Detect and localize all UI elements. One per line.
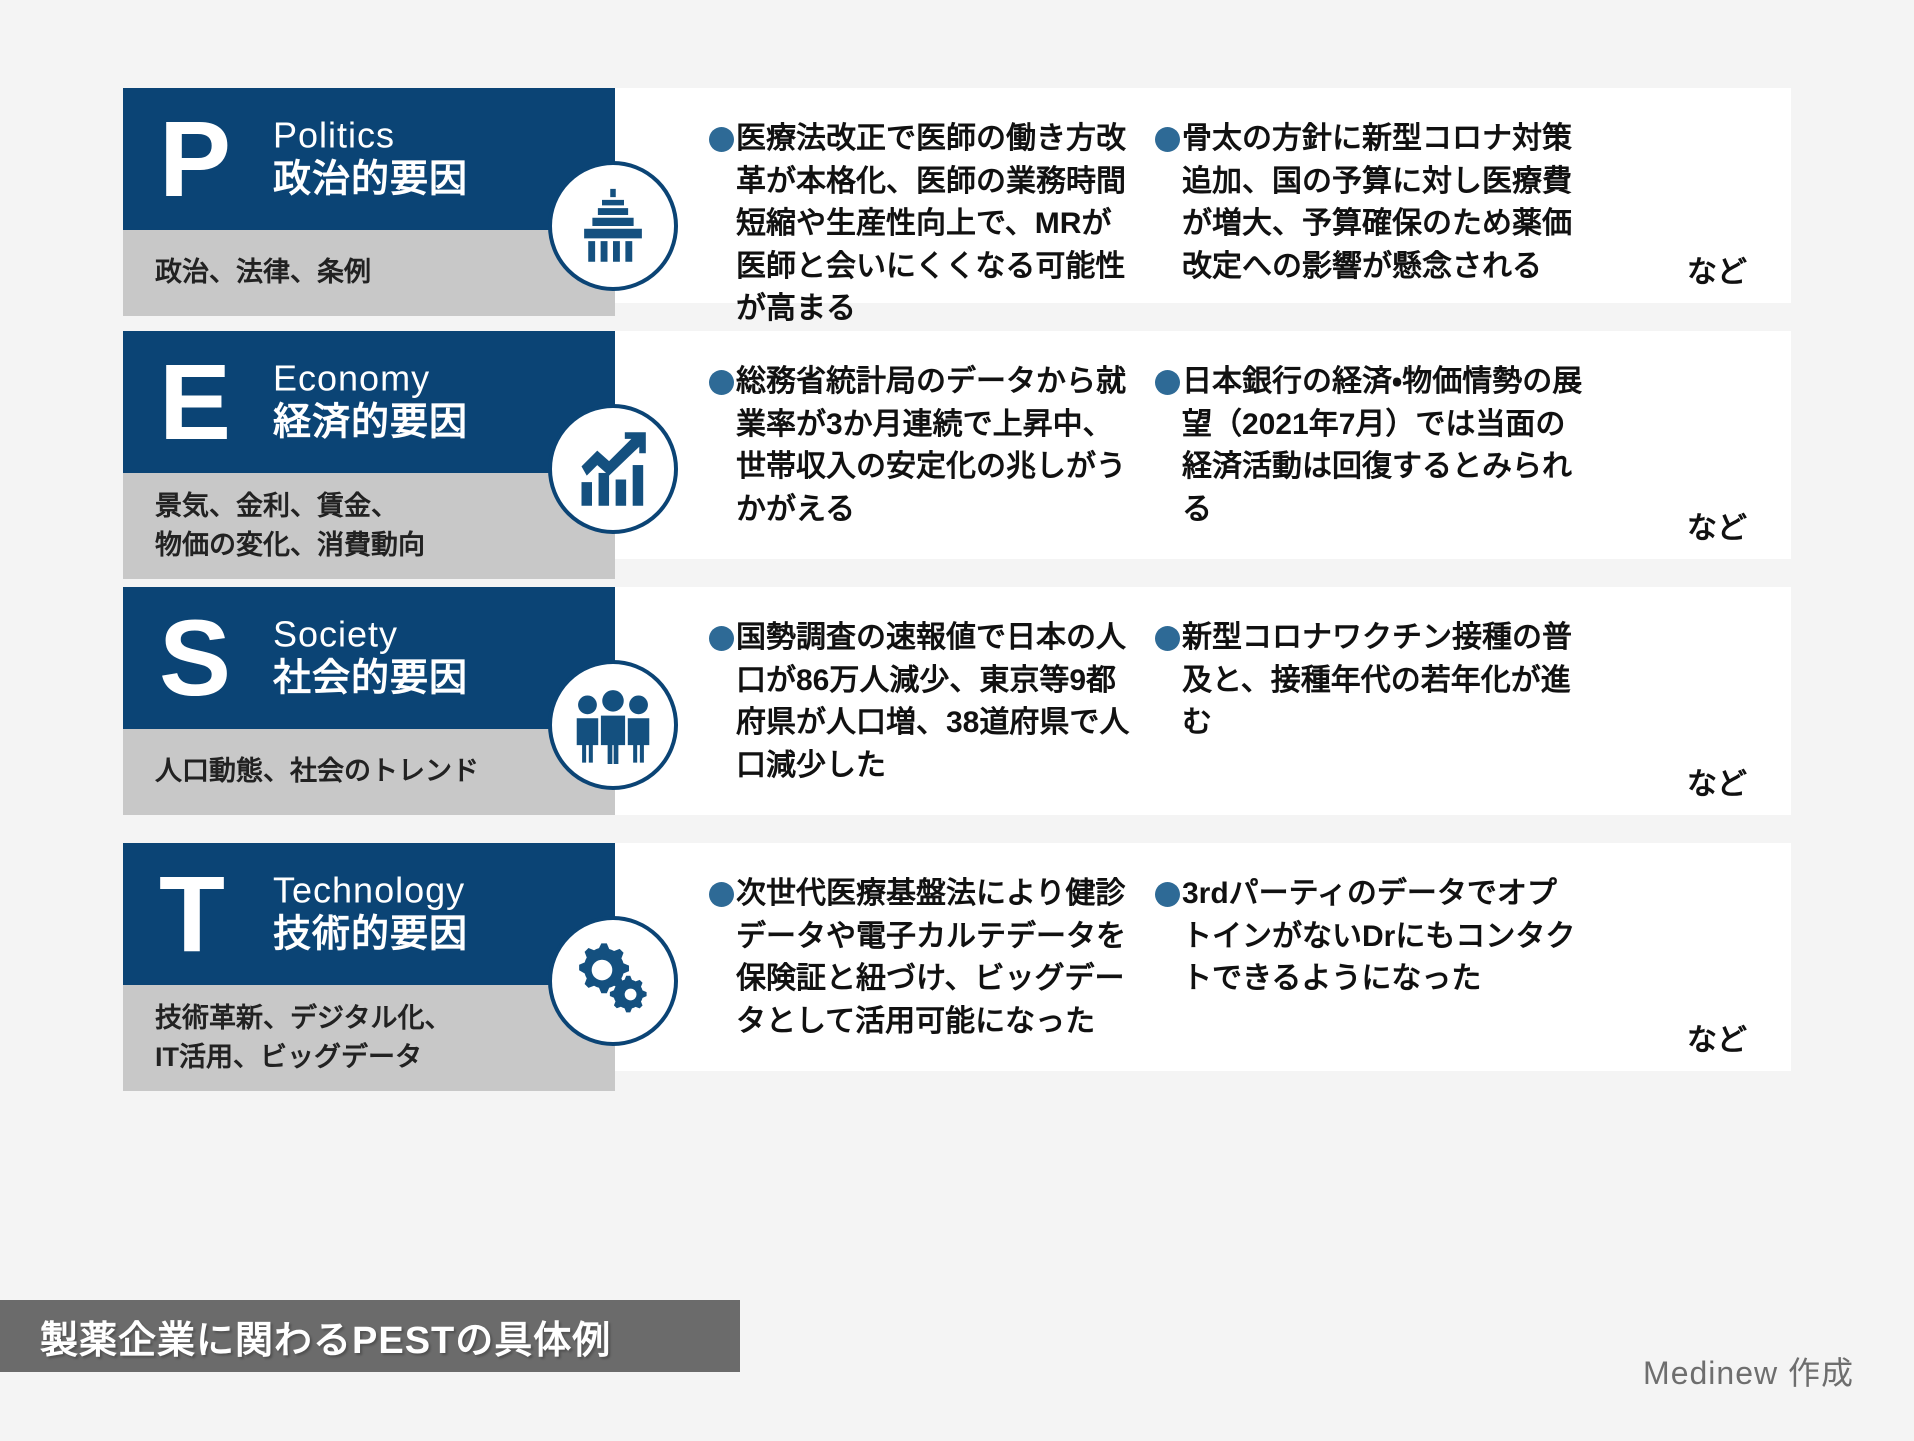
bullet-dot-icon [1155, 626, 1180, 651]
bullet-text: 新型コロナワクチン接種の普及と、接種年代の若年化が進む [1182, 617, 1585, 745]
row-header-texts-society: Society 社会的要因 [273, 614, 468, 703]
row-left-panel-economy: E Economy 経済的要因 景気、金利、賃金、 物価の変化、消費動向 [123, 331, 615, 559]
row-content-technology: 次世代医療基盤法により健診データや電子カルテデータを保険証と紐づけ、ビッグデータ… [615, 843, 1791, 1071]
row-left-panel-society: S Society 社会的要因 人口動態、社会のトレンド [123, 587, 615, 815]
gears-icon [548, 916, 678, 1046]
bullet-dot-icon [709, 626, 734, 651]
footer-title-bar: 製薬企業に関わるPESTの具体例 [0, 1300, 740, 1372]
etc-label-society: など [1687, 759, 1747, 803]
bullet-group-society-2: 新型コロナワクチン接種の普及と、接種年代の若年化が進む [1155, 617, 1585, 745]
pest-diagram: P Politics 政治的要因 政治、法律、条例 [0, 0, 1914, 1441]
bullet-text: 次世代医療基盤法により健診データや電子カルテデータを保険証と紐づけ、ビッグデータ… [736, 873, 1139, 1043]
bullet-group-economy-2: 日本銀行の経済・物価情勢の展望（2021年7月）では当面の経済活動は回復するとみ… [1155, 361, 1585, 531]
bullet-text: 国勢調査の速報値で日本の人口が86万人減少、東京等9都府県が人口増、38道府県で… [736, 617, 1139, 787]
bullet-item: 骨太の方針に新型コロナ対策追加、国の予算に対し医療費が増大、予算確保のため薬価改… [1155, 118, 1585, 288]
row-japanese-politics: 政治的要因 [273, 158, 468, 204]
pest-row-economy: E Economy 経済的要因 景気、金利、賃金、 物価の変化、消費動向 [123, 331, 1791, 559]
bullet-dot-icon [709, 370, 734, 395]
row-letter-technology: T [159, 860, 223, 968]
row-japanese-economy: 経済的要因 [273, 401, 468, 447]
row-subtitle-society: 人口動態、社会のトレンド [155, 752, 479, 791]
bar-chart-growth-icon [548, 404, 678, 534]
row-japanese-society: 社会的要因 [273, 657, 468, 703]
bullet-group-technology-2: 3rdパーティのデータでオプトインがないDrにもコンタクトできるようになった [1155, 873, 1585, 1001]
bullet-item: 次世代医療基盤法により健診データや電子カルテデータを保険証と紐づけ、ビッグデータ… [709, 873, 1139, 1043]
row-subtitle-box-economy: 景気、金利、賃金、 物価の変化、消費動向 [123, 473, 615, 579]
row-header-texts-politics: Politics 政治的要因 [273, 115, 468, 204]
bullet-item: 新型コロナワクチン接種の普及と、接種年代の若年化が進む [1155, 617, 1585, 745]
row-header-technology: T Technology 技術的要因 [123, 843, 615, 985]
bullet-dot-icon [709, 882, 734, 907]
bullet-dot-icon [1155, 370, 1180, 395]
footer-credit: Medinew 作成 [1643, 1348, 1854, 1394]
bullet-dot-icon [1155, 882, 1180, 907]
pest-row-society: S Society 社会的要因 人口動態、社会のトレンド [123, 587, 1791, 815]
bullet-group-economy-1: 総務省統計局のデータから就業率が3か月連続で上昇中、世帯収入の安定化の兆しがうか… [709, 361, 1139, 531]
bullet-text: 総務省統計局のデータから就業率が3か月連続で上昇中、世帯収入の安定化の兆しがうか… [736, 361, 1139, 531]
bullet-text: 医療法改正で医師の働き方改革が本格化、医師の業務時間短縮や生産性向上で、MRが医… [736, 118, 1139, 331]
bullet-text: 3rdパーティのデータでオプトインがないDrにもコンタクトできるようになった [1182, 873, 1585, 1001]
bullet-text: 日本銀行の経済・物価情勢の展望（2021年7月）では当面の経済活動は回復するとみ… [1182, 361, 1585, 531]
row-header-politics: P Politics 政治的要因 [123, 88, 615, 230]
bullet-item: 日本銀行の経済・物価情勢の展望（2021年7月）では当面の経済活動は回復するとみ… [1155, 361, 1585, 531]
bullet-group-politics-2: 骨太の方針に新型コロナ対策追加、国の予算に対し医療費が増大、予算確保のため薬価改… [1155, 118, 1585, 288]
row-letter-society: S [159, 604, 229, 712]
row-content-politics: 医療法改正で医師の働き方改革が本格化、医師の業務時間短縮や生産性向上で、MRが医… [615, 88, 1791, 303]
row-subtitle-box-politics: 政治、法律、条例 [123, 230, 615, 316]
pest-row-politics: P Politics 政治的要因 政治、法律、条例 [123, 88, 1791, 303]
row-subtitle-technology: 技術革新、デジタル化、 IT活用、ビッグデータ [155, 999, 451, 1077]
etc-label-technology: など [1687, 1015, 1747, 1059]
bullet-item: 3rdパーティのデータでオプトインがないDrにもコンタクトできるようになった [1155, 873, 1585, 1001]
bullet-dot-icon [1155, 127, 1180, 152]
etc-label-politics: など [1687, 247, 1747, 291]
row-letter-economy: E [159, 348, 229, 456]
row-subtitle-economy: 景気、金利、賃金、 物価の変化、消費動向 [155, 487, 425, 565]
bullet-text: 骨太の方針に新型コロナ対策追加、国の予算に対し医療費が増大、予算確保のため薬価改… [1182, 118, 1585, 288]
row-english-politics: Politics [273, 115, 468, 156]
bullet-group-politics-1: 医療法改正で医師の働き方改革が本格化、医師の業務時間短縮や生産性向上で、MRが医… [709, 118, 1139, 331]
row-letter-politics: P [159, 105, 229, 213]
bullet-item: 国勢調査の速報値で日本の人口が86万人減少、東京等9都府県が人口増、38道府県で… [709, 617, 1139, 787]
row-english-economy: Economy [273, 358, 468, 399]
pest-row-technology: T Technology 技術的要因 技術革新、デジタル化、 IT活用、ビッグデ… [123, 843, 1791, 1071]
row-subtitle-politics: 政治、法律、条例 [155, 253, 371, 292]
row-content-society: 国勢調査の速報値で日本の人口が86万人減少、東京等9都府県が人口増、38道府県で… [615, 587, 1791, 815]
row-header-texts-technology: Technology 技術的要因 [273, 870, 468, 959]
row-left-panel-politics: P Politics 政治的要因 政治、法律、条例 [123, 88, 615, 303]
parliament-building-icon [548, 161, 678, 291]
row-english-technology: Technology [273, 870, 468, 911]
row-left-panel-technology: T Technology 技術的要因 技術革新、デジタル化、 IT活用、ビッグデ… [123, 843, 615, 1071]
bullet-item: 医療法改正で医師の働き方改革が本格化、医師の業務時間短縮や生産性向上で、MRが医… [709, 118, 1139, 331]
row-content-economy: 総務省統計局のデータから就業率が3か月連続で上昇中、世帯収入の安定化の兆しがうか… [615, 331, 1791, 559]
row-header-society: S Society 社会的要因 [123, 587, 615, 729]
row-subtitle-box-technology: 技術革新、デジタル化、 IT活用、ビッグデータ [123, 985, 615, 1091]
row-subtitle-box-society: 人口動態、社会のトレンド [123, 729, 615, 815]
bullet-item: 総務省統計局のデータから就業率が3か月連続で上昇中、世帯収入の安定化の兆しがうか… [709, 361, 1139, 531]
row-header-economy: E Economy 経済的要因 [123, 331, 615, 473]
row-header-texts-economy: Economy 経済的要因 [273, 358, 468, 447]
bullet-group-technology-1: 次世代医療基盤法により健診データや電子カルテデータを保険証と紐づけ、ビッグデータ… [709, 873, 1139, 1043]
footer-title: 製薬企業に関わるPESTの具体例 [40, 1309, 611, 1364]
bullet-dot-icon [709, 127, 734, 152]
bullet-group-society-1: 国勢調査の速報値で日本の人口が86万人減少、東京等9都府県が人口増、38道府県で… [709, 617, 1139, 787]
row-japanese-technology: 技術的要因 [273, 913, 468, 959]
etc-label-economy: など [1687, 503, 1747, 547]
row-english-society: Society [273, 614, 468, 655]
three-people-icon [548, 660, 678, 790]
